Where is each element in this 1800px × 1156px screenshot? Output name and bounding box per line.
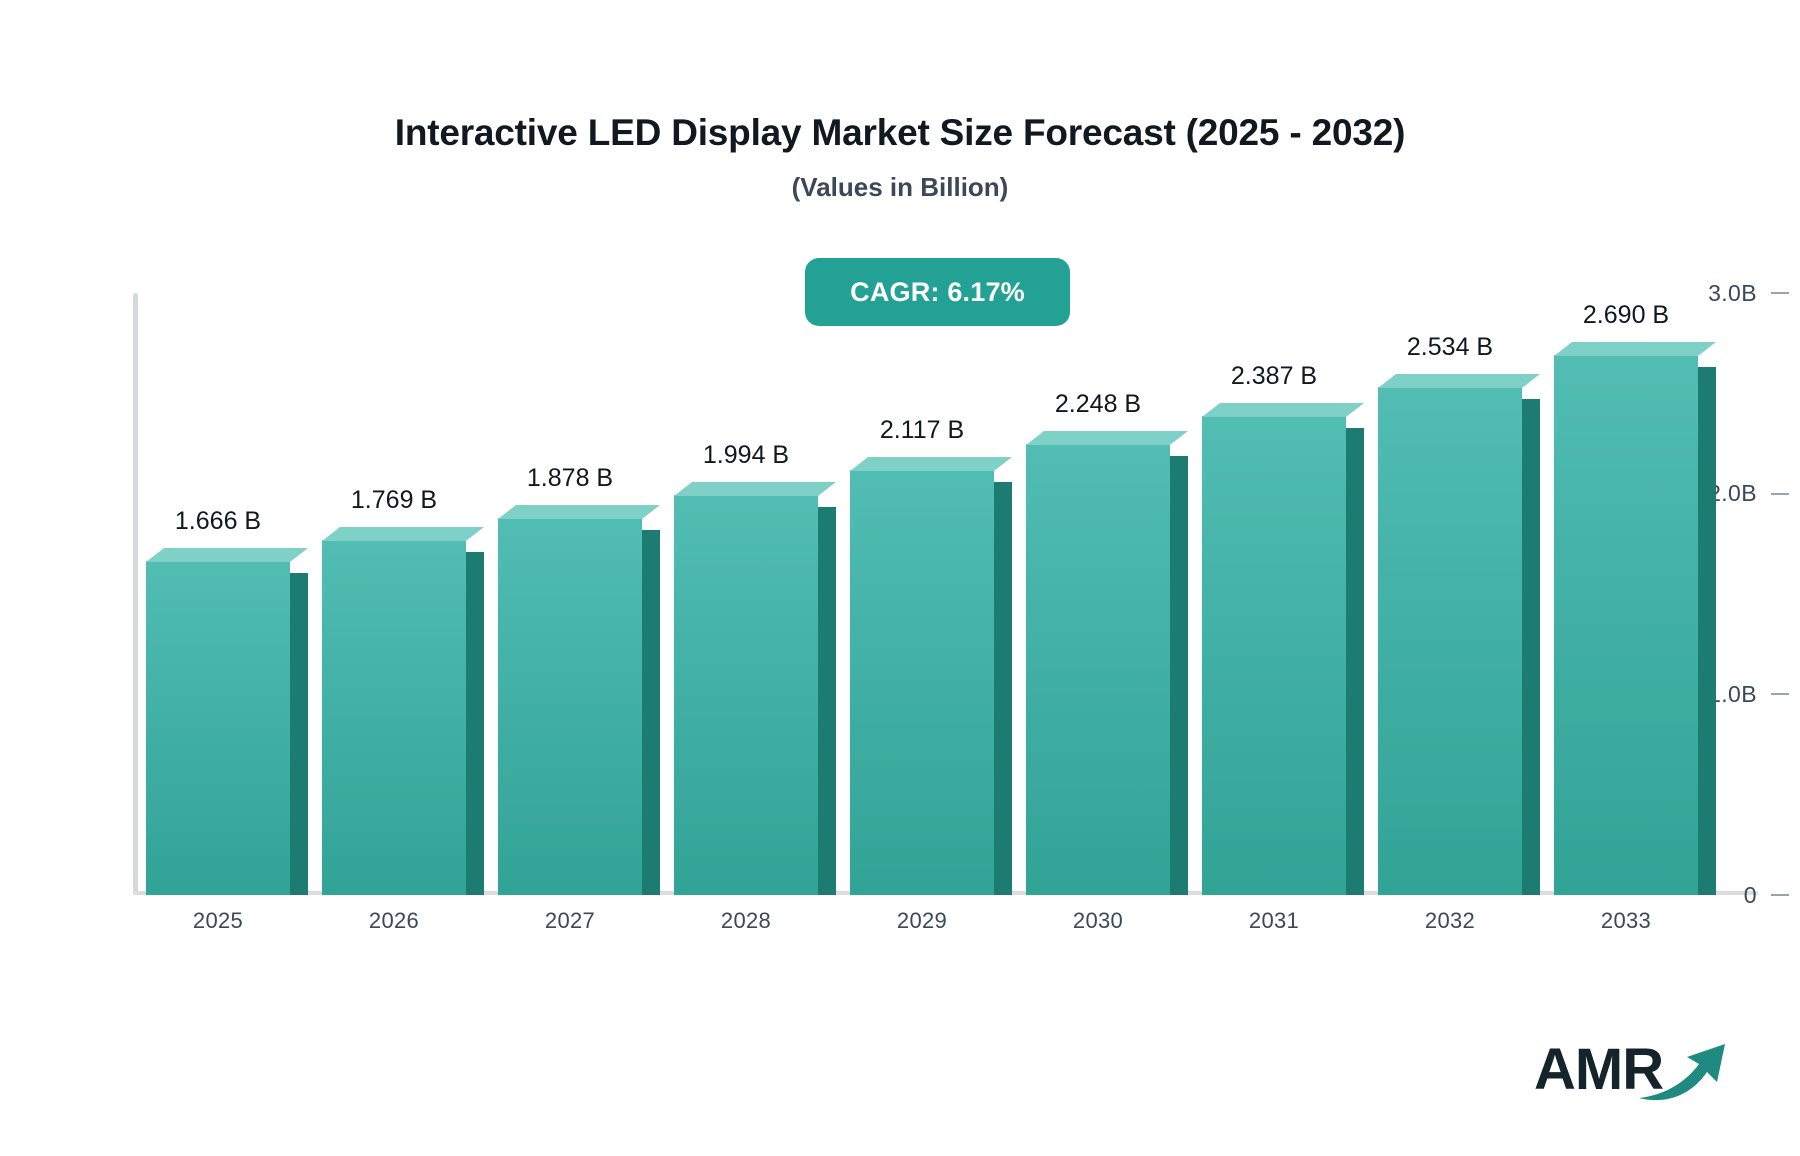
bar-front-face: [674, 495, 818, 895]
x-axis-label-2028: 2028: [656, 908, 836, 934]
bar-2027: [498, 518, 660, 895]
bar-side-face: [1346, 428, 1364, 895]
bar-front-face: [1554, 355, 1698, 895]
bar-value-label: 2.387 B: [1164, 362, 1384, 391]
bar-top-face: [674, 482, 836, 496]
bar-side-face: [466, 552, 484, 895]
bar-2030: [1026, 444, 1188, 895]
bar-front-face: [1202, 416, 1346, 895]
bar-front-face: [1026, 444, 1170, 895]
bar-value-label: 2.534 B: [1340, 333, 1560, 362]
bar-2032: [1378, 387, 1540, 895]
x-axis-label-2032: 2032: [1360, 908, 1540, 934]
bar-top-face: [1202, 403, 1364, 417]
amr-logo: AMR: [1534, 1040, 1734, 1110]
bar-front-face: [1378, 387, 1522, 895]
bar-front-face: [850, 470, 994, 895]
bar-value-label: 1.994 B: [636, 441, 856, 470]
bar-2031: [1202, 416, 1364, 895]
bar-2025: [146, 561, 308, 895]
bar-front-face: [322, 540, 466, 895]
bar-side-face: [1170, 456, 1188, 895]
x-axis-label-2026: 2026: [304, 908, 484, 934]
bar-top-face: [850, 457, 1012, 471]
chart-canvas: Interactive LED Display Market Size Fore…: [0, 0, 1800, 1156]
bar-value-label: 2.248 B: [988, 390, 1208, 419]
bar-side-face: [1698, 367, 1716, 895]
bar-top-face: [146, 548, 308, 562]
bar-side-face: [642, 530, 660, 895]
x-axis-label-2029: 2029: [832, 908, 1012, 934]
bar-top-face: [1026, 431, 1188, 445]
bar-side-face: [290, 573, 308, 895]
bar-side-face: [1522, 399, 1540, 895]
x-axis-label-2030: 2030: [1008, 908, 1188, 934]
x-axis-label-2031: 2031: [1184, 908, 1364, 934]
bar-value-label: 2.117 B: [812, 416, 1032, 445]
bar-value-label: 2.690 B: [1516, 301, 1736, 330]
x-axis-label-2025: 2025: [128, 908, 308, 934]
bar-top-face: [1378, 374, 1540, 388]
bars-layer: 1.666 B20251.769 B20261.878 B20271.994 B…: [0, 0, 1800, 1156]
bar-2028: [674, 495, 836, 895]
bar-2026: [322, 540, 484, 895]
x-axis-label-2033: 2033: [1536, 908, 1716, 934]
bar-2029: [850, 470, 1012, 895]
bar-front-face: [146, 561, 290, 895]
growth-arrow-icon: [1637, 1038, 1733, 1109]
bar-2033: [1554, 355, 1716, 895]
bar-side-face: [818, 507, 836, 895]
x-axis-label-2027: 2027: [480, 908, 660, 934]
bar-side-face: [994, 482, 1012, 895]
bar-top-face: [1554, 342, 1716, 356]
bar-front-face: [498, 518, 642, 895]
bar-top-face: [322, 527, 484, 541]
bar-top-face: [498, 505, 660, 519]
